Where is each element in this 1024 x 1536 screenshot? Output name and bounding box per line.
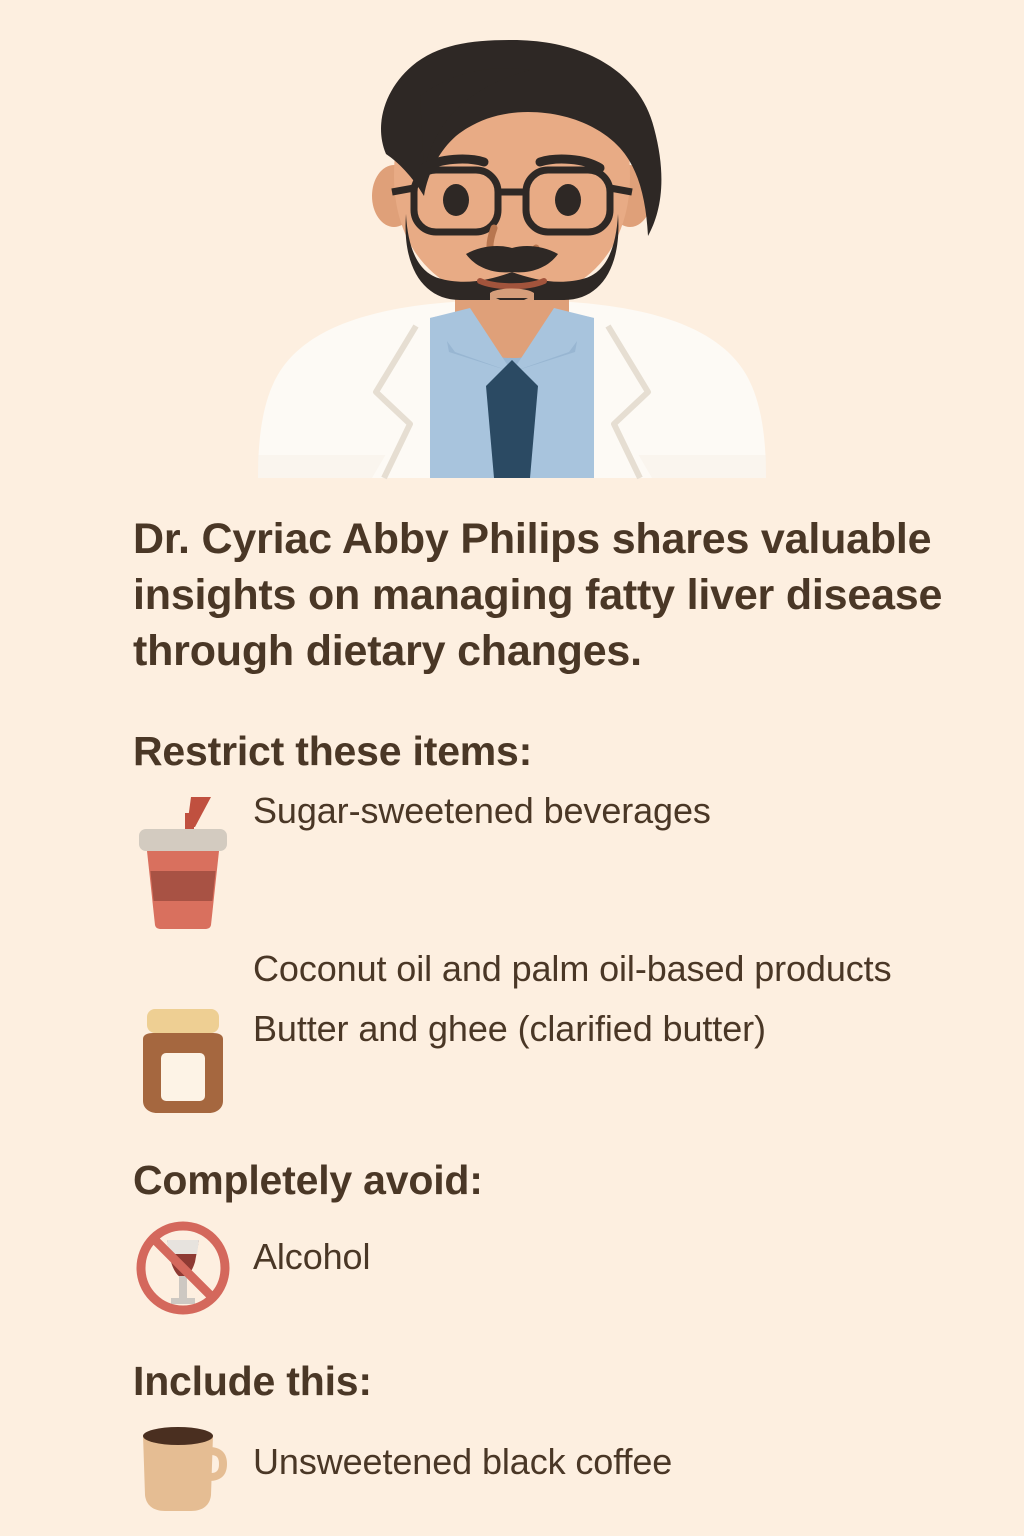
list-item: Unsweetened black coffee <box>133 1419 998 1519</box>
avoid-item-list: Alcohol <box>133 1218 998 1318</box>
eye-left <box>443 184 469 216</box>
list-item-label: Unsweetened black coffee <box>253 1419 672 1483</box>
restrict-item-list: Sugar-sweetened beverages Coconut oil an… <box>133 789 998 1116</box>
include-item-list: Unsweetened black coffee <box>133 1419 998 1519</box>
list-item: Butter and ghee (clarified butter) <box>133 1007 998 1115</box>
soda-cup-icon <box>133 789 253 931</box>
section-include: Include this: Unsweetened black coffee <box>0 1358 1024 1519</box>
list-item-label: Alcohol <box>253 1218 370 1278</box>
list-item: Sugar-sweetened beverages <box>133 789 998 931</box>
no-alcohol-icon <box>133 1218 253 1318</box>
list-item: Coconut oil and palm oil-based products <box>133 947 998 990</box>
list-item: Alcohol <box>133 1218 998 1318</box>
section-avoid: Completely avoid: <box>0 1157 1024 1318</box>
list-item-label: Butter and ghee (clarified butter) <box>253 1007 766 1050</box>
coffee-mug-icon <box>133 1419 253 1519</box>
section-title-restrict: Restrict these items: <box>133 728 998 775</box>
section-restrict: Restrict these items: Sugar-sweetened be… <box>0 728 1024 1116</box>
eye-right <box>555 184 581 216</box>
infographic-card: Dr. Cyriac Abby Philips shares valuable … <box>0 0 1024 1536</box>
content-area: Dr. Cyriac Abby Philips shares valuable … <box>0 482 1024 1519</box>
list-item-label: Coconut oil and palm oil-based products <box>253 947 891 990</box>
list-item-label: Sugar-sweetened beverages <box>253 789 711 832</box>
section-title-include: Include this: <box>133 1358 998 1405</box>
butter-jar-icon <box>133 1007 253 1115</box>
page-headline: Dr. Cyriac Abby Philips shares valuable … <box>0 482 1024 680</box>
section-title-avoid: Completely avoid: <box>133 1157 998 1204</box>
doctor-portrait-illustration <box>0 0 1024 482</box>
